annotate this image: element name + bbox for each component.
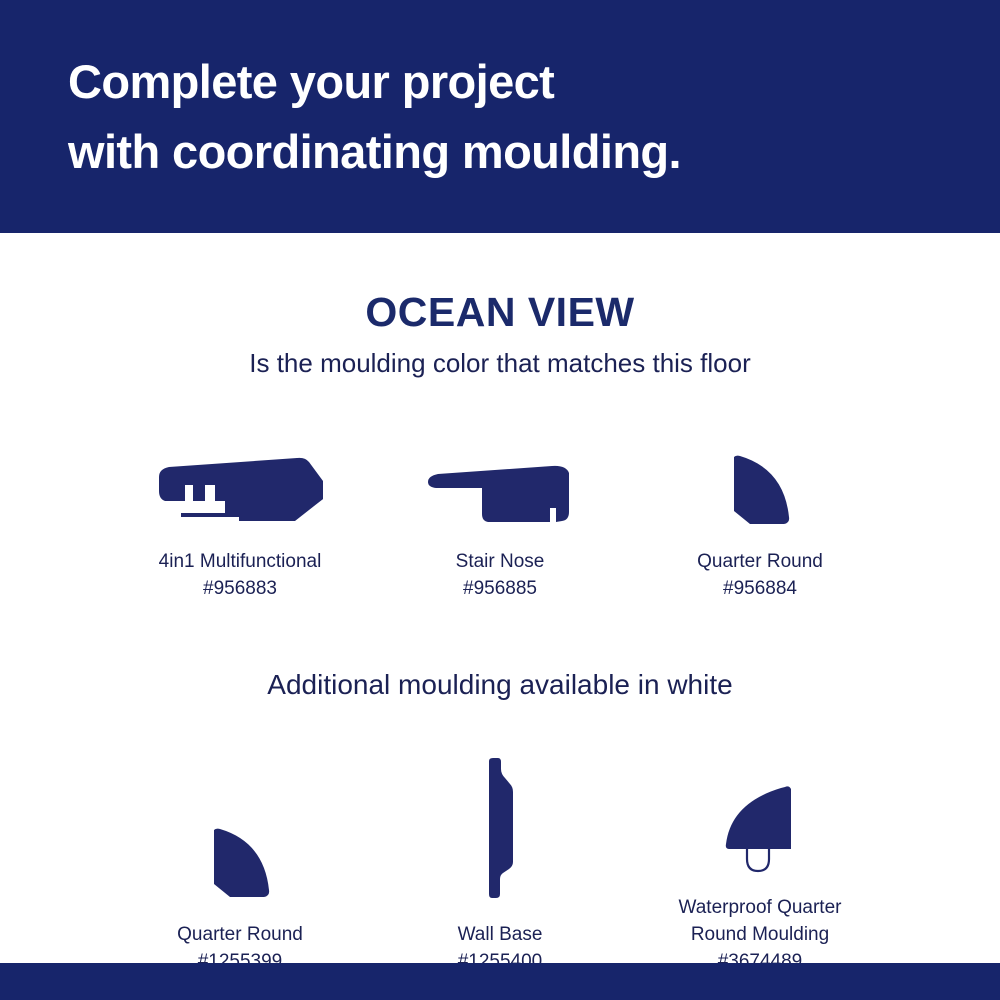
stair-nose-moulding-icon [426, 465, 574, 527]
product-name-heading: OCEAN VIEW [365, 289, 634, 336]
header-title-line-2: with coordinating moulding. [68, 117, 1000, 187]
wall-base-moulding-icon [483, 758, 517, 900]
quarter-round-moulding-icon [728, 455, 792, 527]
moulding-label: 4in1 Multifunctional [159, 549, 322, 576]
header-title-line-1: Complete your project [68, 47, 1000, 117]
moulding-shape-container [120, 427, 360, 527]
four-in-one-multifunctional-moulding-icon [155, 455, 325, 527]
moulding-shape-container [380, 750, 620, 900]
moulding-label: Quarter Round [177, 922, 303, 949]
moulding-sku: #956885 [463, 576, 537, 603]
header-banner: Complete your project with coordinating … [0, 0, 1000, 233]
moulding-label: Wall Base [458, 922, 543, 949]
moulding-shape-container [640, 723, 880, 873]
moulding-shape-container [640, 427, 880, 527]
content-area: OCEAN VIEW Is the moulding color that ma… [0, 233, 1000, 1000]
moulding-shape-container [120, 750, 360, 900]
moulding-label: Waterproof Quarter Round Moulding [653, 895, 868, 949]
moulding-sku: #956883 [203, 576, 277, 603]
moulding-sku: #956884 [723, 576, 797, 603]
primary-moulding-row: 4in1 Multifunctional #956883 Stair Nose … [120, 427, 880, 603]
moulding-label: Stair Nose [456, 549, 545, 576]
waterproof-quarter-round-moulding-icon [723, 783, 797, 873]
white-moulding-row: Quarter Round #1255399 Wall Base #125540… [120, 723, 880, 976]
moulding-card-waterproof-quarter-round[interactable]: Waterproof Quarter Round Moulding #36744… [640, 723, 880, 976]
moulding-info-page: Complete your project with coordinating … [0, 0, 1000, 1000]
moulding-card-quarter-round[interactable]: Quarter Round #956884 [640, 427, 880, 603]
moulding-card-quarter-round-white[interactable]: Quarter Round #1255399 [120, 750, 360, 976]
quarter-round-moulding-icon [208, 828, 272, 900]
moulding-shape-container [380, 427, 620, 527]
moulding-card-4in1-multifunctional[interactable]: 4in1 Multifunctional #956883 [120, 427, 360, 603]
white-moulding-section-heading: Additional moulding available in white [267, 669, 732, 701]
footer-bar [0, 963, 1000, 1000]
product-subtitle: Is the moulding color that matches this … [249, 348, 750, 379]
moulding-card-wall-base[interactable]: Wall Base #1255400 [380, 750, 620, 976]
moulding-label: Quarter Round [697, 549, 823, 576]
moulding-card-stair-nose[interactable]: Stair Nose #956885 [380, 427, 620, 603]
